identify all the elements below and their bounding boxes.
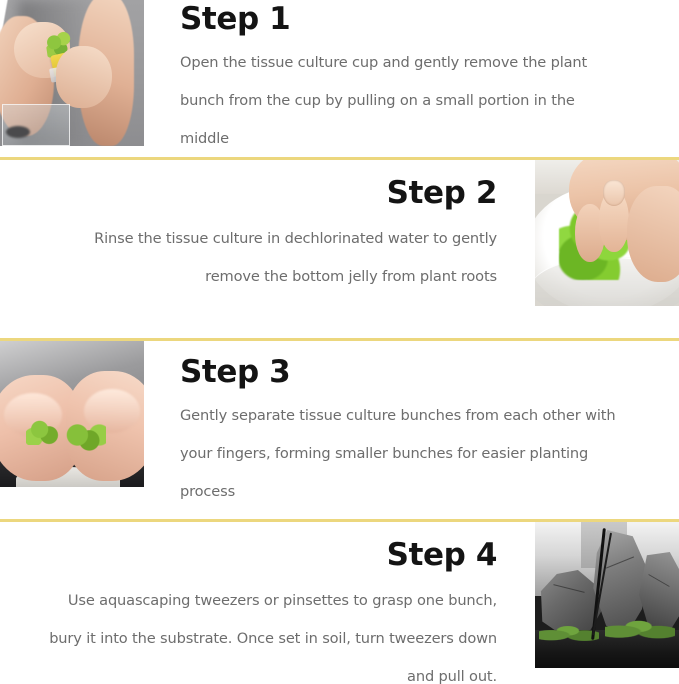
step-1-image xyxy=(0,0,144,146)
step-section-3: Step 3 Gently separate tissue culture bu… xyxy=(0,341,679,519)
step-4-image xyxy=(535,522,679,668)
step-3-copy: Step 3 Gently separate tissue culture bu… xyxy=(144,341,679,511)
photo-hands-rinsing-plant xyxy=(535,160,679,306)
photo-aquascape-rocks-tweezers xyxy=(535,522,679,668)
step-2-image xyxy=(535,160,679,306)
step-2-title: Step 2 xyxy=(40,174,497,212)
step-1-copy: Step 1 Open the tissue culture cup and g… xyxy=(144,0,679,157)
step-4-copy: Step 4 Use aquascaping tweezers or pinse… xyxy=(0,522,535,684)
step-3-title: Step 3 xyxy=(180,353,617,391)
step-1-title: Step 1 xyxy=(180,0,617,38)
step-section-4: Step 4 Use aquascaping tweezers or pinse… xyxy=(0,522,679,684)
step-4-body: Use aquascaping tweezers or pinsettes to… xyxy=(40,582,497,684)
photo-hands-separating-bunches xyxy=(0,341,144,487)
step-section-2: Step 2 Rinse the tissue culture in dechl… xyxy=(0,160,679,338)
step-2-copy: Step 2 Rinse the tissue culture in dechl… xyxy=(0,160,535,296)
step-3-image xyxy=(0,341,144,487)
photo-person-opening-cup xyxy=(0,0,144,146)
step-1-body: Open the tissue culture cup and gently r… xyxy=(180,44,617,157)
planting-steps-infographic: Step 1 Open the tissue culture cup and g… xyxy=(0,0,679,684)
step-section-1: Step 1 Open the tissue culture cup and g… xyxy=(0,0,679,157)
step-4-title: Step 4 xyxy=(40,536,497,574)
step-2-body: Rinse the tissue culture in dechlorinate… xyxy=(40,220,497,296)
step-3-body: Gently separate tissue culture bunches f… xyxy=(180,397,617,511)
